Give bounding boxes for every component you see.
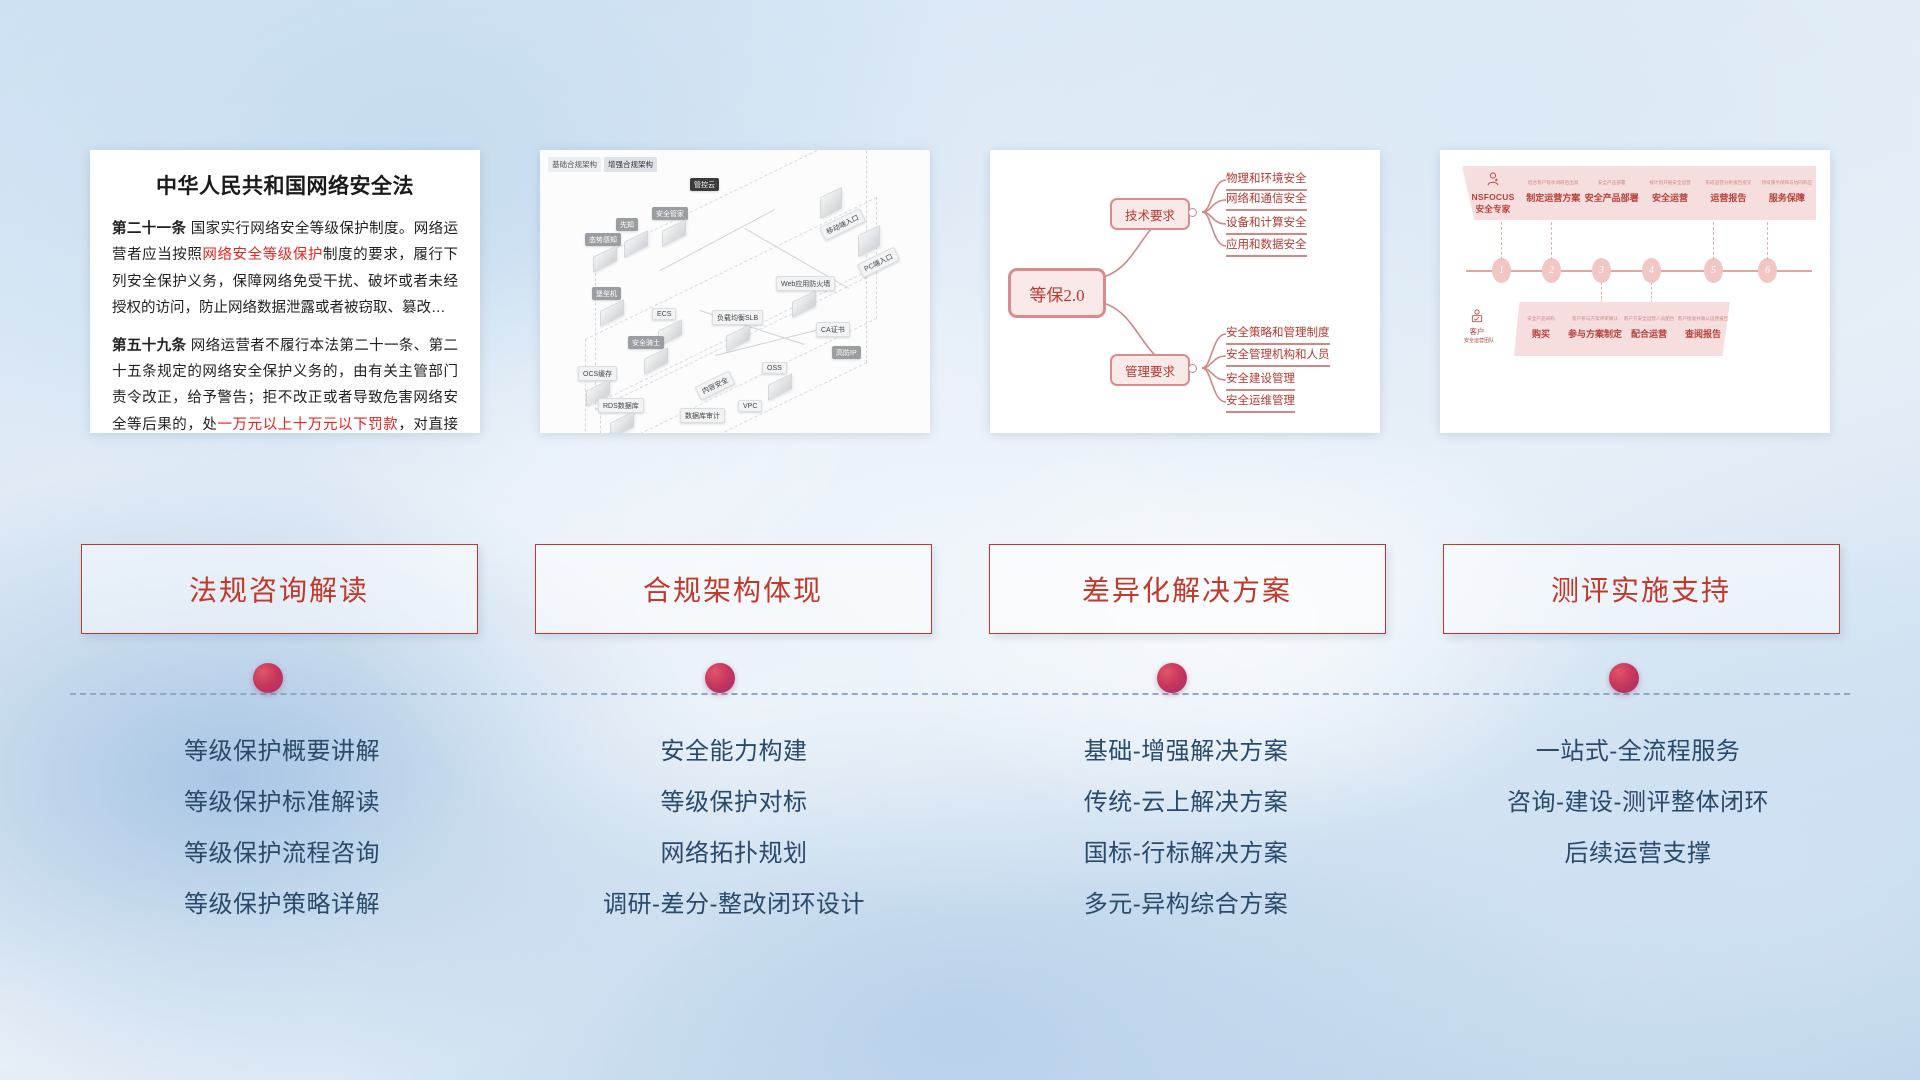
arch-node-rds: RDS数据库 bbox=[598, 398, 644, 433]
arch-node-oss: OSS bbox=[762, 362, 792, 395]
architecture-tab-enhanced[interactable]: 增强合规架构 bbox=[604, 157, 657, 172]
arch-chip-dbaudit: 数据库审计 bbox=[680, 408, 725, 423]
law-article-21-number: 第二十一条 bbox=[112, 221, 186, 237]
mind-map-root: 等保2.0 bbox=[1008, 268, 1106, 318]
headline-label-4: 测评实施支持 bbox=[1551, 569, 1731, 609]
list-item: 一站式-全流程服务 bbox=[1441, 740, 1836, 764]
expert-step-3-label: 安全运营 bbox=[1652, 193, 1688, 203]
headline-box-2[interactable]: 合规架构体现 bbox=[535, 544, 932, 634]
expert-step-4-label: 运营报告 bbox=[1710, 193, 1746, 203]
customer-step-2-caption: 客户参与方案评审确认 bbox=[1568, 316, 1622, 322]
bullet-column-4: 一站式-全流程服务 咨询-建设-测评整体闭环 后续运营支撑 bbox=[1441, 740, 1836, 944]
list-item: 国标-行标解决方案 bbox=[989, 842, 1384, 866]
mind-map-dot-technical bbox=[1188, 208, 1197, 217]
mind-map-leaf-physical: 物理和环境安全 bbox=[1226, 170, 1307, 191]
customer-step-2-label: 参与方案制定 bbox=[1568, 329, 1622, 339]
architecture-tabs: 基础合规架构 增强合规架构 bbox=[548, 157, 657, 172]
customer-step-1-label: 购买 bbox=[1532, 329, 1550, 339]
arch-node-waf: Web应用防火墙 bbox=[776, 276, 835, 312]
headline-box-4[interactable]: 测评实施支持 bbox=[1443, 544, 1840, 634]
timeline-dot-4[interactable] bbox=[1609, 663, 1639, 693]
timeline-node-6: 6 bbox=[1758, 258, 1777, 283]
headline-box-1[interactable]: 法规咨询解读 bbox=[81, 544, 478, 634]
expert-persona: NSFOCUS 安全专家 bbox=[1462, 171, 1524, 216]
arch-chip-slb: 负载均衡SLB bbox=[712, 310, 763, 325]
arch-chip-baolei: 堡垒机 bbox=[592, 287, 621, 300]
timeline-node-4: 4 bbox=[1642, 258, 1661, 283]
expert-step-4: 形成运营分析报告提交 运营报告 bbox=[1699, 180, 1757, 207]
timeline-customer-banner: 安全产品采购 购买 客户参与方案评审确认 参与方案制定 客户方安全运营人员配合 … bbox=[1514, 302, 1730, 356]
expert-name-line2: 安全专家 bbox=[1462, 204, 1524, 215]
law-article-21-highlight: 网络安全等级保护 bbox=[202, 247, 323, 263]
bullet-column-2: 安全能力构建 等级保护对标 网络拓扑规划 调研-差分-整改闭环设计 bbox=[537, 740, 932, 944]
customer-step-1-caption: 安全产品采购 bbox=[1514, 316, 1568, 322]
arch-node-ca: CA证书 bbox=[816, 322, 850, 337]
arch-node-taishiganzhi: 态势感知 bbox=[585, 233, 621, 267]
list-item: 等级保护流程咨询 bbox=[85, 842, 480, 866]
headline-label-3: 差异化解决方案 bbox=[1082, 569, 1292, 609]
timeline-node-5: 5 bbox=[1704, 258, 1723, 283]
mind-map-leaf-network: 网络和通信安全 bbox=[1226, 190, 1307, 211]
expert-step-5-caption: 持续服务保障与协同响应 bbox=[1758, 180, 1816, 186]
customer-name-line1: 客户 bbox=[1464, 326, 1490, 337]
expert-step-1: 结合客户现状调研后出具 制定运营方案 bbox=[1524, 180, 1582, 207]
list-item: 多元-异构综合方案 bbox=[989, 893, 1384, 917]
customer-step-list: 安全产品采购 购买 客户参与方案评审确认 参与方案制定 客户方安全运营人员配合 … bbox=[1514, 316, 1730, 343]
arch-chip-guankongyun: 管控云 bbox=[690, 178, 719, 191]
thumbnail-row: 中华人民共和国网络安全法 第二十一条 国家实行网络安全等级保护制度。网络运营者应… bbox=[0, 150, 1920, 440]
law-document-body: 中华人民共和国网络安全法 第二十一条 国家实行网络安全等级保护制度。网络运营者应… bbox=[90, 150, 480, 433]
customer-step-4: 客户接收并确认运营报告 查阅报告 bbox=[1676, 316, 1730, 343]
customer-step-3-label: 配合运营 bbox=[1631, 329, 1667, 339]
arch-chip-antiddos: 高防IP bbox=[832, 346, 861, 359]
architecture-tab-basic[interactable]: 基础合规架构 bbox=[548, 157, 601, 172]
thumbnail-service-timeline[interactable]: NSFOCUS 安全专家 结合客户现状调研后出具 制定运营方案 安全产品部署 安… bbox=[1440, 150, 1830, 433]
expert-step-5-label: 服务保障 bbox=[1769, 193, 1805, 203]
headline-label-1: 法规咨询解读 bbox=[189, 569, 369, 609]
timeline-stem-5 bbox=[1713, 222, 1714, 260]
list-item: 传统-云上解决方案 bbox=[989, 791, 1384, 815]
arch-node-antiddos: 高防IP bbox=[832, 346, 861, 359]
service-timeline-canvas: NSFOCUS 安全专家 结合客户现状调研后出具 制定运营方案 安全产品部署 安… bbox=[1440, 150, 1830, 433]
expert-step-5: 持续服务保障与协同响应 服务保障 bbox=[1758, 180, 1816, 207]
expert-name-line1: NSFOCUS bbox=[1462, 192, 1524, 203]
list-item: 等级保护标准解读 bbox=[85, 791, 480, 815]
law-article-21: 第二十一条 国家实行网络安全等级保护制度。网络运营者应当按照网络安全等级保护制度… bbox=[112, 216, 458, 322]
list-item: 后续运营支撑 bbox=[1441, 842, 1836, 866]
mind-map-branch-management[interactable]: 管理要求 bbox=[1110, 354, 1190, 386]
customer-step-3-caption: 客户方安全运营人员配合 bbox=[1622, 316, 1676, 322]
arch-chip-oss: OSS bbox=[762, 362, 787, 374]
expert-step-2-label: 安全产品部署 bbox=[1585, 193, 1639, 203]
expert-avatar-icon bbox=[1484, 171, 1502, 189]
expert-step-1-label: 制定运营方案 bbox=[1526, 193, 1580, 203]
list-item: 等级保护策略详解 bbox=[85, 893, 480, 917]
customer-avatar-icon bbox=[1469, 308, 1485, 324]
mind-map-canvas: 等保2.0 技术要求 物理和环境安全 网络和通信安全 设备和计算安全 应用和数据… bbox=[990, 150, 1380, 433]
timeline-expert-banner: NSFOCUS 安全专家 结合客户现状调研后出具 制定运营方案 安全产品部署 安… bbox=[1462, 166, 1816, 220]
expert-step-list: 结合客户现状调研后出具 制定运营方案 安全产品部署 安全产品部署 按计划开展安全… bbox=[1524, 180, 1816, 207]
arch-chip-vpc: VPC bbox=[738, 400, 762, 412]
timeline-stem-1 bbox=[1501, 222, 1502, 260]
architecture-canvas: 基础合规架构 增强合规架构 管控云 安全管家 bbox=[540, 150, 930, 433]
expert-step-3-caption: 按计划开展安全运营 bbox=[1641, 180, 1699, 186]
list-item: 调研-差分-整改闭环设计 bbox=[537, 893, 932, 917]
arch-chip-anquanguanjia: 安全管家 bbox=[652, 207, 688, 220]
customer-name-line2: 安全运营团队 bbox=[1464, 337, 1490, 344]
customer-step-4-caption: 客户接收并确认运营报告 bbox=[1676, 316, 1730, 322]
thumbnail-cloud-architecture[interactable]: 基础合规架构 增强合规架构 管控云 安全管家 bbox=[540, 150, 930, 433]
arch-node-slb: 负载均衡SLB bbox=[712, 310, 763, 346]
customer-persona: 客户 安全运营团队 bbox=[1464, 308, 1490, 344]
expert-step-4-caption: 形成运营分析报告提交 bbox=[1699, 180, 1757, 186]
timeline-dot-row bbox=[0, 663, 1920, 723]
mind-map-leaf-operation: 安全运维管理 bbox=[1226, 392, 1295, 413]
arch-chip-ecs: ECS bbox=[652, 308, 676, 320]
arch-chip-ocs: OCS缓存 bbox=[578, 366, 617, 381]
arch-chip-qishi: 安全骑士 bbox=[628, 336, 664, 349]
mind-map-leaf-device: 设备和计算安全 bbox=[1226, 214, 1307, 235]
arch-node-ocs: OCS缓存 bbox=[578, 366, 617, 401]
bullet-column-1: 等级保护概要讲解 等级保护标准解读 等级保护流程咨询 等级保护策略详解 bbox=[85, 740, 480, 944]
arch-node-dbaudit: 数据库审计 bbox=[680, 408, 725, 423]
timeline-node-3: 3 bbox=[1592, 258, 1611, 283]
list-item: 等级保护概要讲解 bbox=[85, 740, 480, 764]
arch-node-qishi: 安全骑士 bbox=[628, 336, 668, 369]
bullet-column-3: 基础-增强解决方案 传统-云上解决方案 国标-行标解决方案 多元-异构综合方案 bbox=[989, 740, 1384, 944]
expert-step-1-caption: 结合客户现状调研后出具 bbox=[1524, 180, 1582, 186]
headline-label-2: 合规架构体现 bbox=[643, 569, 823, 609]
bullet-column-row: 等级保护概要讲解 等级保护标准解读 等级保护流程咨询 等级保护策略详解 安全能力… bbox=[0, 740, 1920, 944]
law-document-title: 中华人民共和国网络安全法 bbox=[112, 170, 458, 200]
thumbnail-law-document[interactable]: 中华人民共和国网络安全法 第二十一条 国家实行网络安全等级保护制度。网络运营者应… bbox=[90, 150, 480, 433]
timeline-dot-2[interactable] bbox=[705, 663, 735, 693]
arch-cube-mobile bbox=[820, 187, 842, 220]
mind-map-leaf-application: 应用和数据安全 bbox=[1226, 236, 1307, 257]
arch-chip-waf: Web应用防火墙 bbox=[776, 276, 835, 291]
customer-step-2: 客户参与方案评审确认 参与方案制定 bbox=[1568, 316, 1622, 343]
list-item: 等级保护对标 bbox=[537, 791, 932, 815]
mind-map-leaf-org: 安全管理机构和人员 bbox=[1226, 346, 1330, 367]
mind-map-leaf-policy: 安全策略和管理制度 bbox=[1226, 324, 1330, 345]
arch-chip-rds: RDS数据库 bbox=[598, 398, 644, 413]
customer-step-4-label: 查阅报告 bbox=[1685, 329, 1721, 339]
slide-stage: 中华人民共和国网络安全法 第二十一条 国家实行网络安全等级保护制度。网络运营者应… bbox=[0, 0, 1920, 1080]
arch-node-mobile: 移动端入口 bbox=[820, 192, 865, 232]
customer-step-3: 客户方安全运营人员配合 配合运营 bbox=[1622, 316, 1676, 343]
headline-box-3[interactable]: 差异化解决方案 bbox=[989, 544, 1386, 634]
law-article-59: 第五十九条 网络运营者不履行本法第二十一条、第二十五条规定的网络安全保护义务的，… bbox=[112, 333, 458, 434]
mind-map-branch-technical[interactable]: 技术要求 bbox=[1110, 198, 1190, 230]
arch-node-guankongyun: 管控云 bbox=[690, 178, 719, 191]
law-article-59-highlight-1: 一万元以上十万元以下罚款 bbox=[217, 417, 398, 433]
timeline-dot-1[interactable] bbox=[253, 663, 283, 693]
law-article-59-number: 第五十九条 bbox=[112, 338, 186, 354]
list-item: 安全能力构建 bbox=[537, 740, 932, 764]
thumbnail-mind-map[interactable]: 等保2.0 技术要求 物理和环境安全 网络和通信安全 设备和计算安全 应用和数据… bbox=[990, 150, 1380, 433]
timeline-node-2: 2 bbox=[1542, 258, 1561, 283]
list-item: 咨询-建设-测评整体闭环 bbox=[1441, 791, 1836, 815]
arch-cube-rds bbox=[610, 411, 634, 433]
arch-chip-xianzhi: 先知 bbox=[616, 218, 638, 231]
timeline-stem-2 bbox=[1551, 222, 1552, 260]
arch-node-anquanguanjia: 安全管家 bbox=[652, 207, 688, 241]
arch-cube-pc bbox=[858, 225, 880, 258]
mind-map-leaf-construction: 安全建设管理 bbox=[1226, 370, 1295, 391]
arch-node-pc: PC端入口 bbox=[858, 230, 899, 270]
list-item: 基础-增强解决方案 bbox=[989, 740, 1384, 764]
arch-chip-ca: CA证书 bbox=[816, 322, 850, 337]
expert-step-2: 安全产品部署 安全产品部署 bbox=[1582, 180, 1640, 207]
expert-step-2-caption: 安全产品部署 bbox=[1582, 180, 1640, 186]
headline-row: 法规咨询解读 合规架构体现 差异化解决方案 测评实施支持 bbox=[0, 544, 1920, 634]
timeline-dot-3[interactable] bbox=[1157, 663, 1187, 693]
list-item: 网络拓扑规划 bbox=[537, 842, 932, 866]
expert-step-3: 按计划开展安全运营 安全运营 bbox=[1641, 180, 1699, 207]
arch-node-baolei: 堡垒机 bbox=[592, 287, 624, 321]
timeline-stem-6 bbox=[1767, 222, 1768, 260]
customer-step-1: 安全产品采购 购买 bbox=[1514, 316, 1568, 343]
mind-map-dot-management bbox=[1188, 364, 1197, 373]
arch-node-vpc: VPC bbox=[738, 400, 762, 412]
arch-chip-taishiganzhi: 态势感知 bbox=[585, 233, 621, 246]
timeline-node-1: 1 bbox=[1492, 258, 1511, 283]
